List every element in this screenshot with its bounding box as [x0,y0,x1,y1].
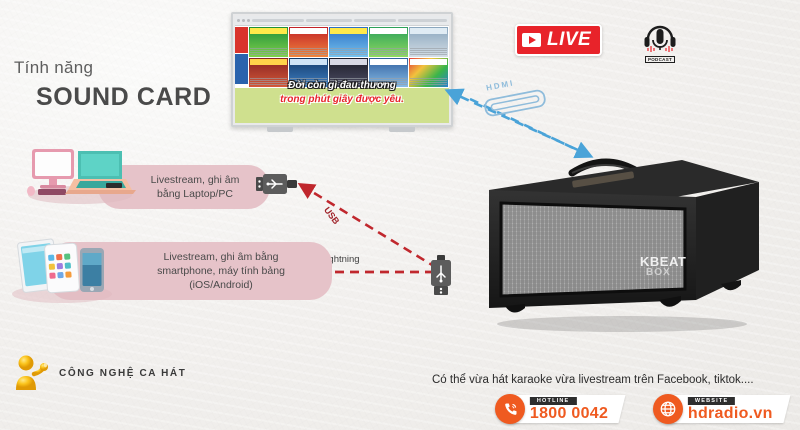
page-title: Tính năng SOUND CARD [14,58,211,112]
live-badge: LIVE [515,24,602,56]
video-thumbnail[interactable] [369,27,408,57]
hotline-body: HOTLINE 1800 0042 [509,395,626,423]
hotline-value: 1800 0042 [530,406,608,422]
hdmi-port-icon [481,88,549,118]
tv-lyric-line-1: Đời còn gì đau thương [235,80,449,91]
feature-1-line-1: Livestream, ghi âm [151,173,240,187]
video-thumbnail-grid [248,26,449,88]
tv-screen: Đời còn gì đau thương trong phút giây đư… [231,12,453,127]
phone-icon [495,394,525,424]
usb-connector-b-icon [428,255,454,301]
website-body: WEBSITE hdradio.vn [667,395,791,423]
portal-sidebar [235,26,248,88]
video-thumbnail[interactable] [289,27,328,57]
website-value: hdradio.vn [688,406,773,422]
video-portal [235,26,449,88]
video-thumbnail[interactable] [249,27,288,57]
infographic-canvas: Tính năng SOUND CARD [0,0,800,430]
brand-name: CÔNG NGHỆ CA HÁT [59,368,186,379]
globe-icon [653,394,683,424]
website-tag: WEBSITE [688,397,735,405]
live-badge-label: LIVE [547,29,591,51]
usb-connector-a-icon [256,172,300,196]
hotline-badge[interactable]: HOTLINE 1800 0042 [495,394,622,424]
footer-caption: Có thể vừa hát karaoke vừa livestream tr… [432,374,754,386]
feature-1-line-2: bằng Laptop/PC [151,187,240,201]
tv-stand-right [389,127,415,132]
video-thumbnail[interactable] [409,27,448,57]
karaoke-speaker: KBEAT BOX [477,148,763,333]
play-icon [522,33,541,47]
tv-display: Đời còn gì đau thương trong phút giây đư… [235,16,449,123]
feature-2-line-3: (iOS/Android) [157,278,285,292]
usb-label: USB [322,205,341,226]
website-badge[interactable]: WEBSITE hdradio.vn [653,394,787,424]
speaker-brand-line-2: BOX [646,267,671,278]
podcast-logo: PODCAST [638,22,682,66]
podcast-label: PODCAST [645,56,675,63]
tv-stand-left [267,127,293,132]
laptop-desktop-icon [18,143,136,205]
tv-lyric-line-2: trong phút giây được yêu. [235,94,449,105]
singer-mascot-icon [10,352,52,394]
feature-2-line-2: smartphone, máy tính bảng [157,264,285,278]
feature-2-line-1: Livestream, ghi âm bằng [157,250,285,264]
brand-logo: CÔNG NGHỆ CA HÁT [10,352,186,394]
microphone-headphones-icon [640,25,680,55]
heading-subtitle: Tính năng [14,58,211,78]
hotline-tag: HOTLINE [530,397,577,405]
video-thumbnail[interactable] [329,27,368,57]
browser-toolbar [235,16,449,26]
heading-title: SOUND CARD [36,83,211,112]
smartphone-tablet-icon [6,232,118,304]
